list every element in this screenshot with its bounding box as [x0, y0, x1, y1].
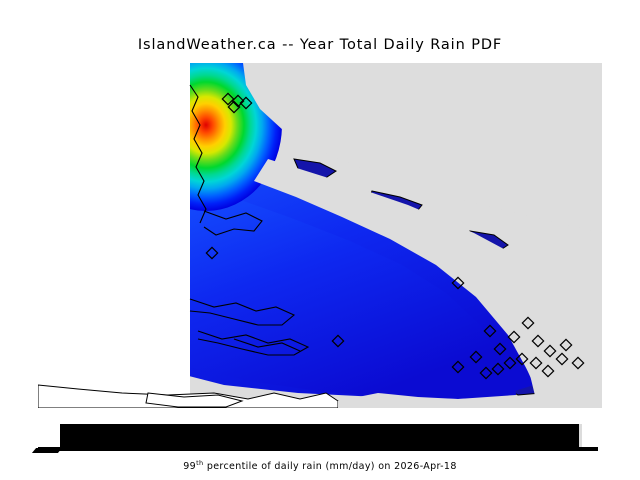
caption-percentile-number: 99 [183, 461, 196, 472]
caption-text: percentile of daily rain (mm/day) on 202… [203, 461, 456, 472]
colorbar-edge [579, 424, 582, 447]
colorbar-axis-line [38, 447, 598, 451]
colorbar-gradient[interactable] [60, 424, 579, 447]
colorbar-caption: 99th percentile of daily rain (mm/day) o… [0, 459, 640, 472]
colorbar-axis-tail [32, 448, 62, 453]
map-graphic[interactable] [38, 63, 602, 408]
colorbar[interactable] [60, 424, 579, 447]
figure-root: IslandWeather.ca -- Year Total Daily Rai… [0, 0, 640, 480]
map-canvas[interactable] [38, 63, 602, 408]
page-title: IslandWeather.ca -- Year Total Daily Rai… [0, 37, 640, 53]
